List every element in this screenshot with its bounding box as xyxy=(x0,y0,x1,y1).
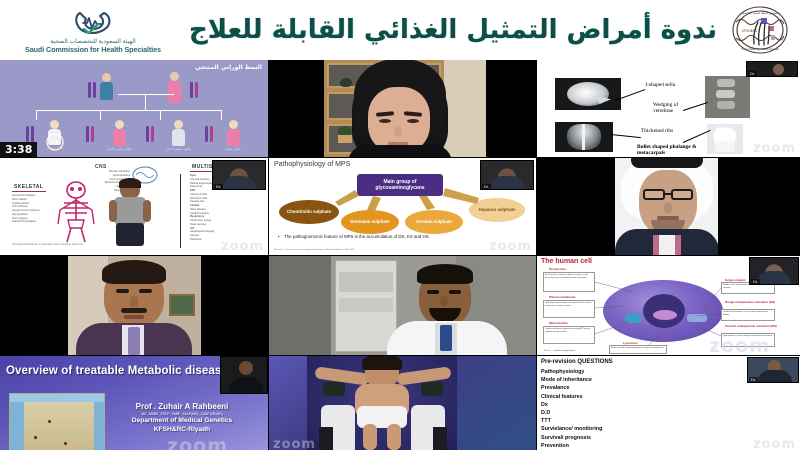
participant-video-doctor-clinic xyxy=(269,256,536,355)
participant-video-man-glasses xyxy=(537,158,800,255)
zoom-watermark: zoom xyxy=(753,141,796,156)
slide-reference: Mucopolysaccharidoses: a systematic revi… xyxy=(12,243,192,246)
father-chromosomes-icon xyxy=(88,82,96,98)
presenter-department: Department of Medical Genetics xyxy=(112,417,252,424)
pedigree-child-unaffected: طفل سليم xyxy=(225,120,241,151)
webinar-screenshot: الهيئة السعودية للتخصصات الصحية Saudi Co… xyxy=(0,0,800,450)
wheelchair-icon xyxy=(40,122,70,152)
child3-chromosomes-icon xyxy=(146,126,154,142)
mother-chromosomes-icon xyxy=(190,82,198,98)
xray-chest-image xyxy=(555,122,613,152)
presenter-pip-thumbnail[interactable]: Dr. xyxy=(746,61,798,77)
skeletal-features-slide: SKELETAL Dysostosis MultiplexShort statu… xyxy=(0,158,268,255)
participant-video-woman xyxy=(269,60,536,157)
pip-name-label: Dr. xyxy=(749,377,758,382)
saudi-arabia-map-image xyxy=(9,393,105,450)
xray-annotation-4: Bullet shaped phalange & metacarpals xyxy=(637,144,721,157)
tile-questions[interactable]: Pre-revision QUESTIONS Pathophysiology M… xyxy=(537,356,800,450)
list-item: Prevention xyxy=(541,442,604,450)
cell-slide-footer: Prof. Dr. ... Lysosomal storage disease xyxy=(543,349,591,354)
the-human-cell-slide: The human cell Peroxisome Small vesicles… xyxy=(537,256,800,355)
list-item: Clinical features xyxy=(541,393,604,401)
saudi-commission-mark-icon xyxy=(70,7,116,37)
pedigree-mother xyxy=(168,72,181,103)
child4-chromosomes-icon xyxy=(205,126,213,142)
list-item: Pathophysiology xyxy=(541,368,604,376)
tile-presenter-woman[interactable] xyxy=(269,60,536,157)
tile-mps[interactable]: Pathophysiology of MPS Main group of gly… xyxy=(269,158,536,255)
tile-man-glasses[interactable] xyxy=(537,158,800,255)
presenter-pip-thumbnail[interactable]: Dr. xyxy=(749,257,799,285)
tile-clinic[interactable] xyxy=(269,256,536,355)
pip-name-label: Dr. xyxy=(214,184,223,189)
tile-skeletal[interactable]: SKELETAL Dysostosis MultiplexShort statu… xyxy=(0,158,268,255)
event-title-arabic: ندوة أمراض التمثيل الغذائي القابلة للعلا… xyxy=(178,17,728,43)
child1-chromosomes-icon xyxy=(26,126,34,142)
presenter-name: Prof . Zuhair A Rahbeeni xyxy=(112,402,252,411)
child2-chromosomes-icon xyxy=(86,126,94,142)
list-item: Survielance/ monitoring xyxy=(541,425,604,433)
overview-slide-title: Overview of treatable Metabolic diseases xyxy=(6,365,234,377)
xray-annotation-3: Thickened ribs xyxy=(641,128,673,134)
list-item: D.D xyxy=(541,409,604,417)
org-name-english: Saudi Commission for Health Specialties xyxy=(25,45,161,54)
tile-patient-photo[interactable]: zoom xyxy=(269,356,536,450)
pathophysiology-of-mps-slide: Pathophysiology of MPS Main group of gly… xyxy=(269,158,536,255)
event-header-banner: الهيئة السعودية للتخصصات الصحية Saudi Co… xyxy=(0,0,800,60)
list-item: Prevalance xyxy=(541,384,604,392)
org-name-arabic: الهيئة السعودية للتخصصات الصحية xyxy=(50,38,135,45)
list-item: Survival/ prognosis xyxy=(541,434,604,442)
saudi-commission-logo: الهيئة السعودية للتخصصات الصحية Saudi Co… xyxy=(8,7,178,54)
list-item: Mode of inheritance xyxy=(541,376,604,384)
mps-bullet-text: • The pathognomonic feature of MPS is th… xyxy=(278,234,528,239)
recording-timestamp: 3:38 xyxy=(0,142,37,157)
kfshrc-seal-icon: مستشفى الملك فيصل التخصصي King Faisal Sp… xyxy=(728,2,792,58)
pre-revision-questions-slide: Pre-revision QUESTIONS Pathophysiology M… xyxy=(537,356,800,450)
tile-xray[interactable]: J-shaped sella Wedging of vertebrae Thic… xyxy=(537,60,800,157)
skeleton-illustration xyxy=(52,180,100,246)
tile-pedigree[interactable]: النمط الوراثي المتنحي xyxy=(0,60,268,157)
skeletal-body-text: Dysostosis MultiplexShort statureKyphosc… xyxy=(12,194,56,224)
presenter-pip-thumbnail[interactable]: Dr. xyxy=(212,160,266,190)
pedigree-father xyxy=(100,73,113,100)
pedigree-child-carrier-1: طفل سليم حامل xyxy=(107,120,132,151)
pedigree-child-carrier-2: طفل سليم حامل xyxy=(166,120,191,151)
list-item: TTT xyxy=(541,417,604,425)
patient-clinical-photo-slide: zoom xyxy=(269,356,536,450)
presenter-institution: KFSH&RC-Riyadh xyxy=(112,426,252,433)
zoom-watermark: zoom xyxy=(167,435,228,450)
tile-man-tie[interactable] xyxy=(0,256,268,355)
radiology-findings-slide: J-shaped sella Wedging of vertebrae Thic… xyxy=(537,60,800,157)
overview-title-slide: Overview of treatable Metabolic diseases… xyxy=(0,356,268,450)
patient-photo xyxy=(108,180,152,246)
svg-text:مستشفى الملك فيصل التخصصي: مستشفى الملك فيصل التخصصي xyxy=(739,11,781,15)
presenter-credentials: MD , MBBS , FRCP , FABP , FAAP(MG) , CAB… xyxy=(110,412,254,416)
tile-human-cell[interactable]: The human cell Peroxisome Small vesicles… xyxy=(537,256,800,355)
questions-heading: Pre-revision QUESTIONS xyxy=(541,359,613,365)
questions-list: Pathophysiology Mode of inheritance Prev… xyxy=(541,368,604,450)
svg-text:King Faisal Specialist Hospita: King Faisal Specialist Hospital xyxy=(741,47,779,51)
pip-name-label: Dr. xyxy=(751,279,760,284)
pedigree-slide-title: النمط الوراثي المتنحي xyxy=(195,64,262,71)
video-tile-grid: النمط الوراثي المتنحي xyxy=(0,60,800,450)
pip-name-label: Dr. xyxy=(482,184,491,189)
tile-title-slide[interactable]: Overview of treatable Metabolic diseases… xyxy=(0,356,268,450)
pip-name-label: Dr. xyxy=(748,71,757,76)
presenter-pip-thumbnail[interactable]: Dr. xyxy=(747,357,799,383)
xray-spine-image xyxy=(705,76,750,118)
xray-annotation-1: J-shaped sella xyxy=(645,82,675,88)
presenter-pip-thumbnail[interactable] xyxy=(220,356,268,394)
participant-video-man-tie xyxy=(0,256,268,355)
pedigree-slide-canvas: النمط الوراثي المتنحي xyxy=(0,60,268,157)
patient-photo-image xyxy=(307,356,457,450)
skeletal-heading: SKELETAL xyxy=(14,184,43,190)
mps-reference: Muenzer J. Overview of the mucopolysacch… xyxy=(274,249,354,251)
list-item: Dx xyxy=(541,401,604,409)
presenter-pip-thumbnail[interactable]: Dr. xyxy=(480,160,534,190)
zoom-watermark: zoom xyxy=(753,437,796,450)
xray-skull-image xyxy=(555,78,621,110)
